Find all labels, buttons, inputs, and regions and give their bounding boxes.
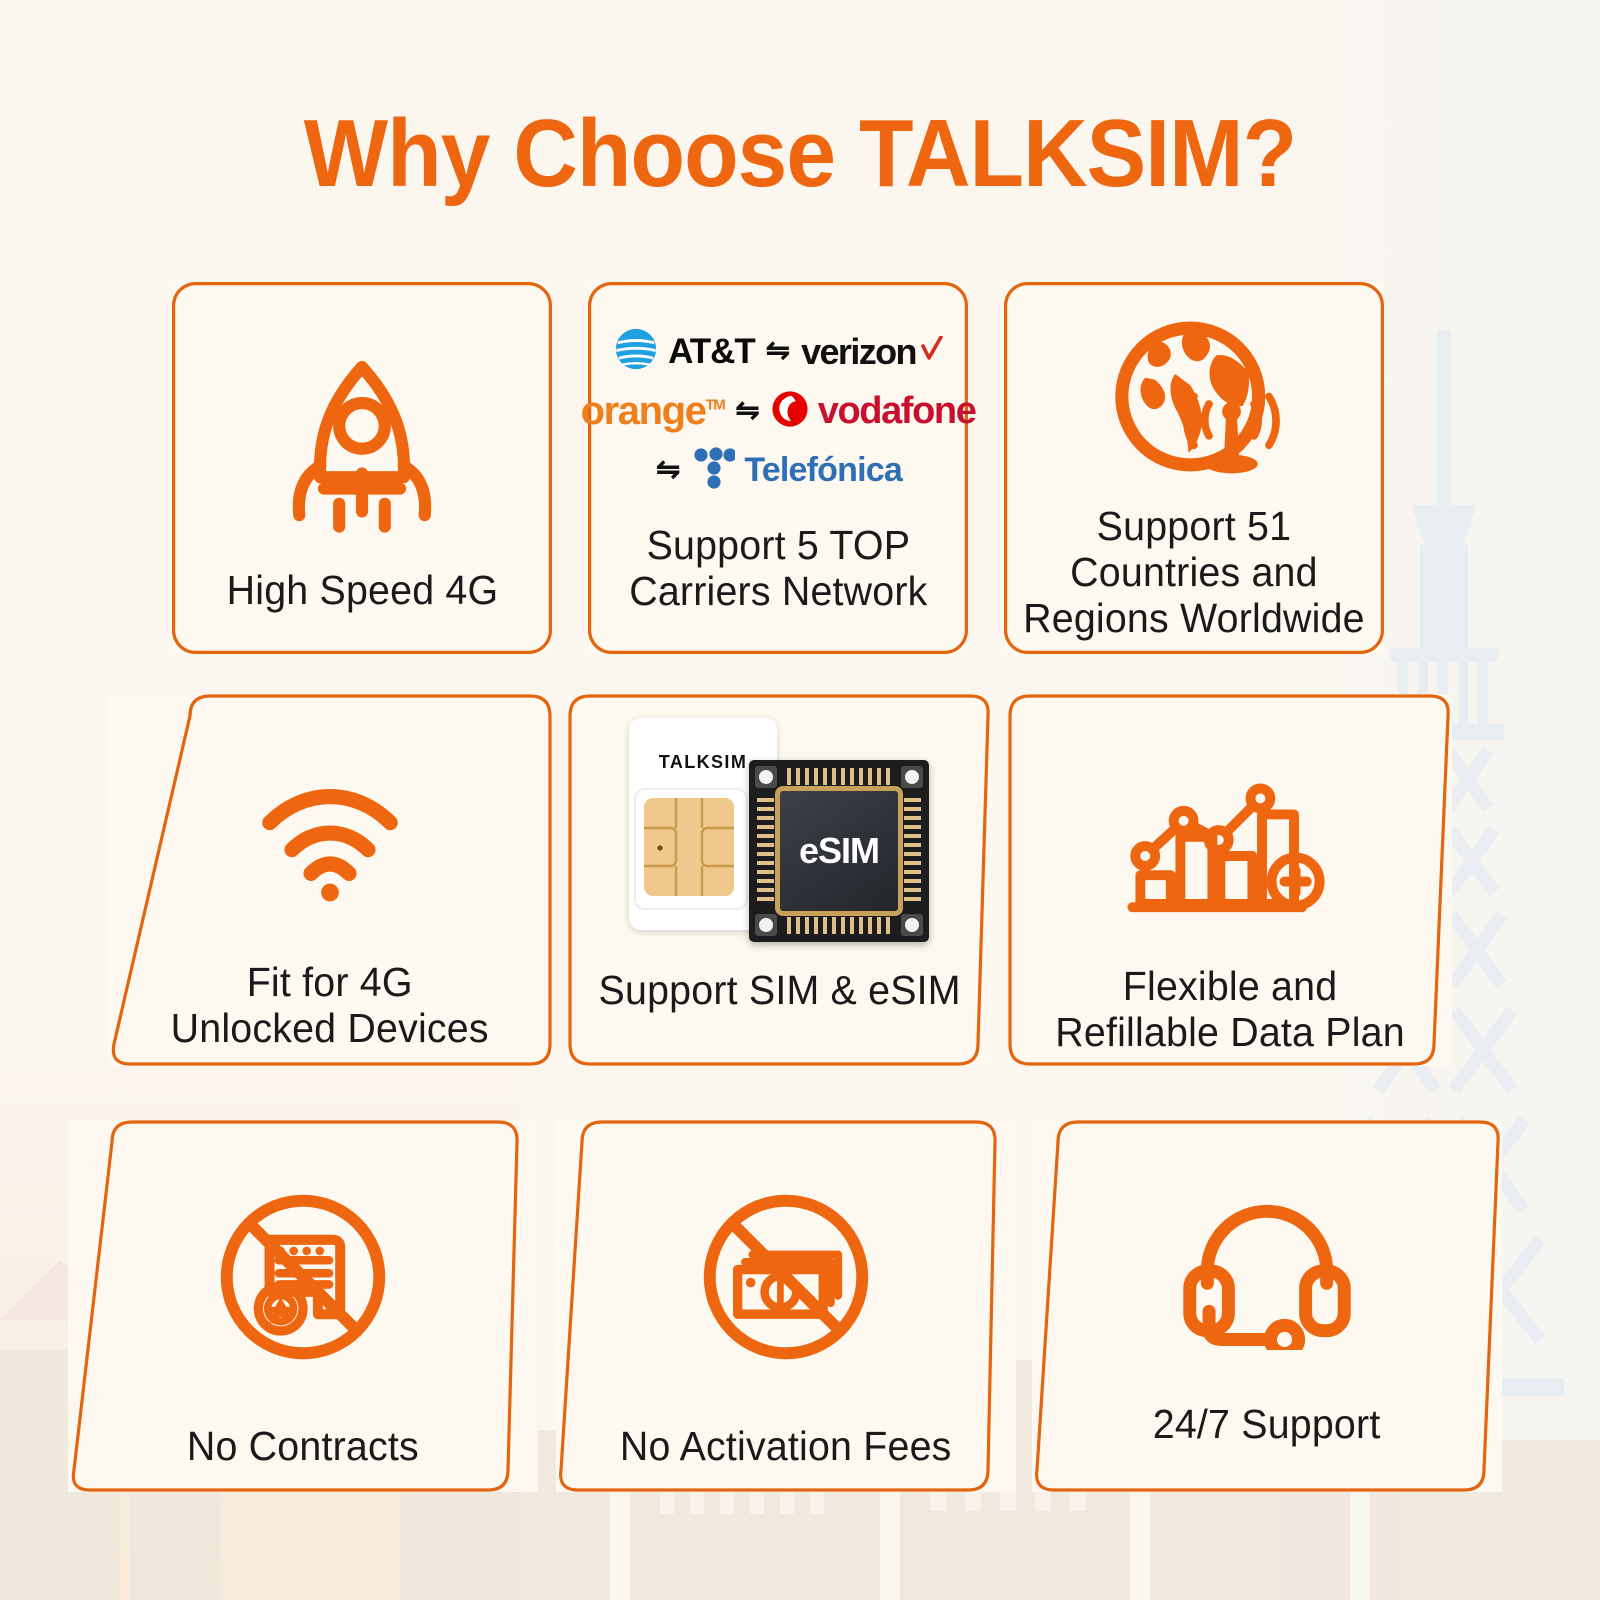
feature-card-high-speed-4g[interactable]: High Speed 4G: [172, 282, 552, 654]
telefonica-dots-icon: [691, 446, 735, 495]
telefonica-wordmark: Telefónica: [744, 451, 902, 490]
headset-icon: [1179, 1192, 1355, 1350]
separator-icon: ⇋: [735, 397, 759, 426]
separator-icon: ⇋: [656, 456, 680, 485]
feature-card-no-activation-fees[interactable]: No Activation Fees: [556, 1120, 1016, 1492]
feature-card-unlocked-devices[interactable]: Fit for 4G Unlocked Devices: [108, 694, 552, 1066]
feature-card-countries-supported[interactable]: Support 51 Countries and Regions Worldwi…: [1004, 282, 1384, 654]
vodafone-quote-icon: [771, 390, 809, 433]
carrier-row-2: orangeTM ⇋ vodafone: [581, 389, 976, 434]
separator-icon: ⇋: [766, 337, 790, 366]
feature-card-label: Fit for 4G Unlocked Devices: [171, 960, 489, 1052]
sim-gold-contacts: [644, 798, 734, 896]
feature-row-1: High Speed 4G: [0, 282, 1600, 682]
verizon-check-icon: [921, 336, 943, 367]
att-globe-icon: [613, 326, 659, 377]
verizon-wordmark: verizon: [801, 331, 916, 373]
carrier-row-1: AT&T ⇋ verizon: [613, 326, 943, 377]
sim-esim-artwork: TALKSIM: [615, 712, 945, 952]
carrier-row-3: ⇋ T: [654, 446, 902, 495]
feature-card-sim-and-esim[interactable]: TALKSIM: [568, 694, 992, 1066]
vodafone-wordmark: vodafone: [818, 390, 976, 433]
no-contract-icon: [210, 1184, 396, 1370]
esim-chip: eSIM: [749, 760, 929, 942]
feature-card-label: Support 51 Countries and Regions Worldwi…: [1023, 504, 1365, 642]
feature-grid: High Speed 4G: [0, 282, 1600, 1500]
att-wordmark: AT&T: [668, 332, 755, 372]
feature-card-flexible-data-plan[interactable]: Flexible and Refillable Data Plan: [1008, 694, 1452, 1066]
feature-card-label: High Speed 4G: [226, 568, 498, 614]
feature-card-label: Flexible and Refillable Data Plan: [1055, 964, 1405, 1056]
feature-card-label: Support SIM & eSIM: [599, 968, 961, 1014]
feature-card-label: No Activation Fees: [620, 1424, 952, 1470]
no-money-icon: [693, 1184, 879, 1370]
feature-card-label: 24/7 Support: [1153, 1402, 1381, 1448]
feature-card-support-247[interactable]: 24/7 Support: [1032, 1120, 1502, 1492]
rocket-icon: [267, 348, 457, 538]
feature-row-2: Fit for 4G Unlocked Devices TALKSIM: [0, 682, 1600, 1100]
feature-card-label: Support 5 TOP Carriers Network: [629, 523, 927, 615]
globe-antenna-icon: [1100, 314, 1288, 494]
wifi-icon: [250, 772, 410, 902]
esim-label: eSIM: [775, 786, 903, 916]
feature-row-3: No Contracts: [0, 1100, 1600, 1500]
page-title: Why Choose TALKSIM?: [56, 104, 1544, 205]
growth-chart-plus-icon: [1126, 760, 1334, 920]
feature-card-label: No Contracts: [187, 1424, 419, 1470]
feature-card-no-contracts[interactable]: No Contracts: [68, 1120, 538, 1492]
carrier-logo-group: AT&T ⇋ verizon orangeTM ⇋: [581, 326, 976, 495]
orange-wordmark: orangeTM: [581, 389, 725, 434]
feature-card-carriers-network[interactable]: AT&T ⇋ verizon orangeTM ⇋: [588, 282, 968, 654]
